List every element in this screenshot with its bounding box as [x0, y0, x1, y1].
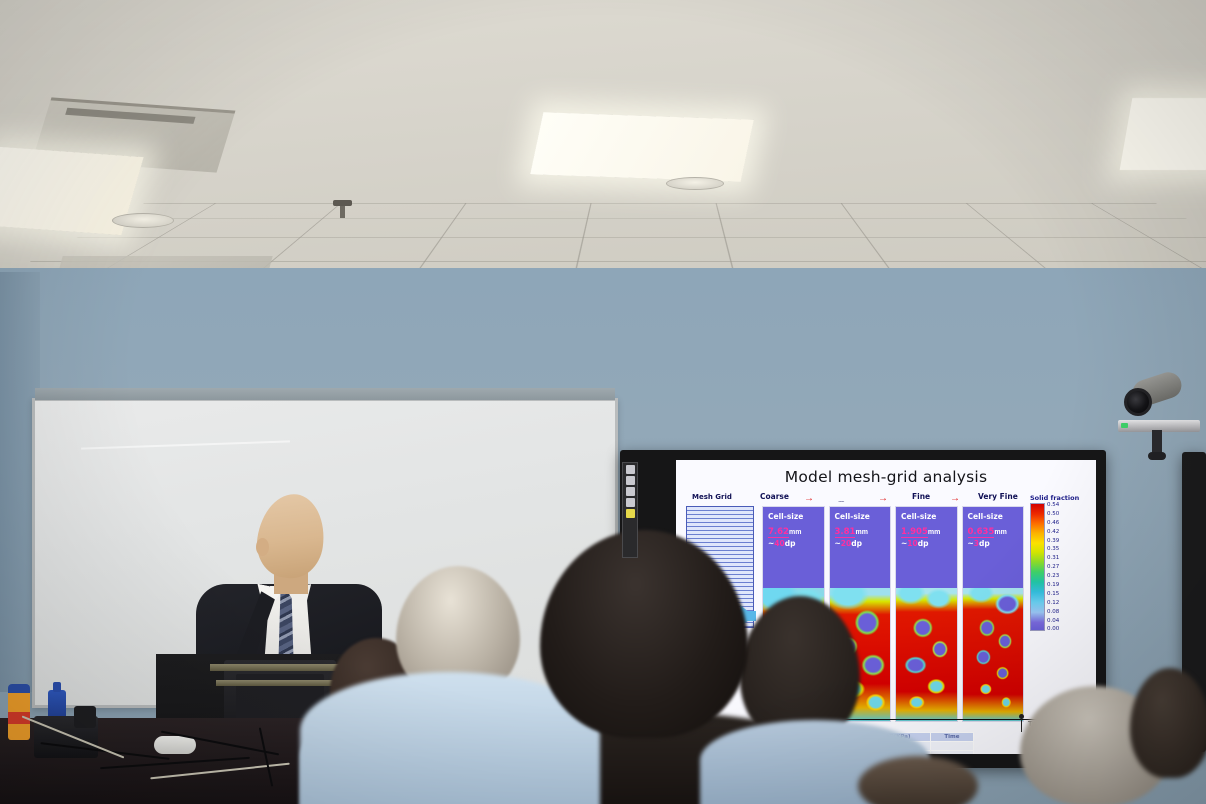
cell-size-unit-a: mm — [789, 529, 801, 536]
colorbar-tick: 0.00 — [1047, 627, 1059, 633]
column-header-coarse: Coarse — [760, 492, 789, 501]
column-header-very-fine: Very Fine — [978, 492, 1018, 501]
black-small-device — [74, 706, 96, 728]
colorbar-gradient — [1030, 503, 1045, 631]
arrow-right-icon-3: → — [950, 495, 960, 503]
podium-monitor-top-edge — [210, 664, 350, 671]
cell-size-value-d: 0.635 — [968, 527, 995, 538]
colorbar-tick: 0.12 — [1047, 601, 1059, 607]
pen-icon[interactable] — [626, 476, 635, 485]
colorbar-tick: 0.23 — [1047, 574, 1059, 580]
mesh-grid-label: Mesh Grid — [692, 493, 732, 501]
presentation-toolbar[interactable] — [622, 462, 638, 558]
ceiling — [0, 0, 1206, 300]
presenter-ear — [256, 538, 269, 556]
white-desk-object — [154, 736, 196, 754]
cell-size-label-d: Cell-size — [968, 512, 1021, 521]
colorbar-ticks: 0.54 0.50 0.46 0.42 0.39 0.35 0.31 0.27 … — [1047, 503, 1059, 633]
colorbar-legend: Solid fraction 0.54 0.50 0.46 0.42 0.39 … — [1030, 494, 1084, 633]
whiteboard-smudge — [81, 440, 290, 449]
contour-panel-d: Cell-size 0.635mm ~3dp — [962, 506, 1025, 722]
colorbar-tick: 0.42 — [1047, 530, 1059, 536]
conference-room-scene: Model mesh-grid analysis Mesh Grid Coars… — [0, 0, 1206, 804]
highlighter-icon[interactable] — [626, 487, 635, 496]
cell-time — [930, 751, 973, 755]
dp-value-b: 20 — [841, 539, 851, 548]
cell-size-value-b: 3.81 — [835, 527, 856, 538]
slide-title: Model mesh-grid analysis — [676, 468, 1096, 486]
colorbar-tick: 0.50 — [1047, 512, 1059, 518]
cell-size-value-a: 7.62 — [768, 527, 789, 538]
audience-head-6 — [1130, 668, 1206, 778]
colorbar-tick: 0.27 — [1047, 565, 1059, 571]
camera-lens-icon — [1124, 388, 1152, 416]
dp-value-a: 40 — [774, 539, 784, 548]
orange-juice-bottle — [8, 684, 30, 740]
colorbar-tick: 0.08 — [1047, 610, 1059, 616]
panel-caption-d: Cell-size 0.635mm ~3dp — [968, 512, 1021, 548]
dp-suffix-a: dp — [785, 539, 796, 548]
podium-monitor-second-edge — [216, 680, 344, 686]
arrow-right-icon-2: → — [878, 495, 888, 503]
eraser-icon[interactable] — [626, 498, 635, 507]
cell-size-value-c: 1.905 — [901, 527, 928, 538]
colorbar-tick: 0.54 — [1047, 503, 1059, 509]
ceiling-panel-light-right — [1120, 98, 1206, 170]
laser-icon[interactable] — [626, 509, 635, 518]
panel-caption-c: Cell-size 1.905mm ~10dp — [901, 512, 954, 548]
arrow-right-icon-1: → — [804, 495, 814, 503]
table-header-time: Time — [930, 733, 973, 742]
cell-size-unit-b: mm — [855, 529, 867, 536]
dp-suffix-b: dp — [851, 539, 862, 548]
colorbar-tick: 0.04 — [1047, 619, 1059, 625]
contour-panel-c: Cell-size 1.905mm ~10dp — [895, 506, 958, 722]
colorbar-tick: 0.39 — [1047, 539, 1059, 545]
cell-size-unit-d: mm — [994, 529, 1006, 536]
ceiling-panel-light-center — [530, 112, 754, 181]
colorbar-tick: 0.15 — [1047, 592, 1059, 598]
colorbar-tick: 0.31 — [1047, 556, 1059, 562]
cell-time — [930, 742, 973, 751]
sprinkler-head-icon — [340, 205, 345, 218]
cell-size-label-a: Cell-size — [768, 512, 821, 521]
camera-wall-bracket — [1152, 430, 1162, 456]
dp-suffix-d: dp — [979, 539, 990, 548]
panel-caption-a: Cell-size 7.62mm ~40dp — [768, 512, 821, 548]
colorbar-tick: 0.35 — [1047, 547, 1059, 553]
recessed-downlight-right — [666, 177, 724, 190]
colorbar-tick: 0.46 — [1047, 521, 1059, 527]
presenter-head — [252, 490, 329, 582]
cell-size-unit-c: mm — [928, 529, 940, 536]
dp-value-c: 10 — [907, 539, 917, 548]
column-header-dots: ...... — [838, 497, 844, 504]
dp-suffix-c: dp — [918, 539, 929, 548]
colorbar-tick: 0.19 — [1047, 583, 1059, 589]
column-header-fine: Fine — [912, 492, 930, 501]
panel-caption-b: Cell-size 3.81mm ~20dp — [835, 512, 888, 548]
cell-size-label-b: Cell-size — [835, 512, 888, 521]
pointer-icon[interactable] — [626, 465, 635, 474]
colorbar-title: Solid fraction — [1030, 494, 1084, 502]
cell-size-label-c: Cell-size — [901, 512, 954, 521]
recessed-downlight-left — [112, 213, 174, 228]
time-average-marker — [1021, 716, 1022, 732]
